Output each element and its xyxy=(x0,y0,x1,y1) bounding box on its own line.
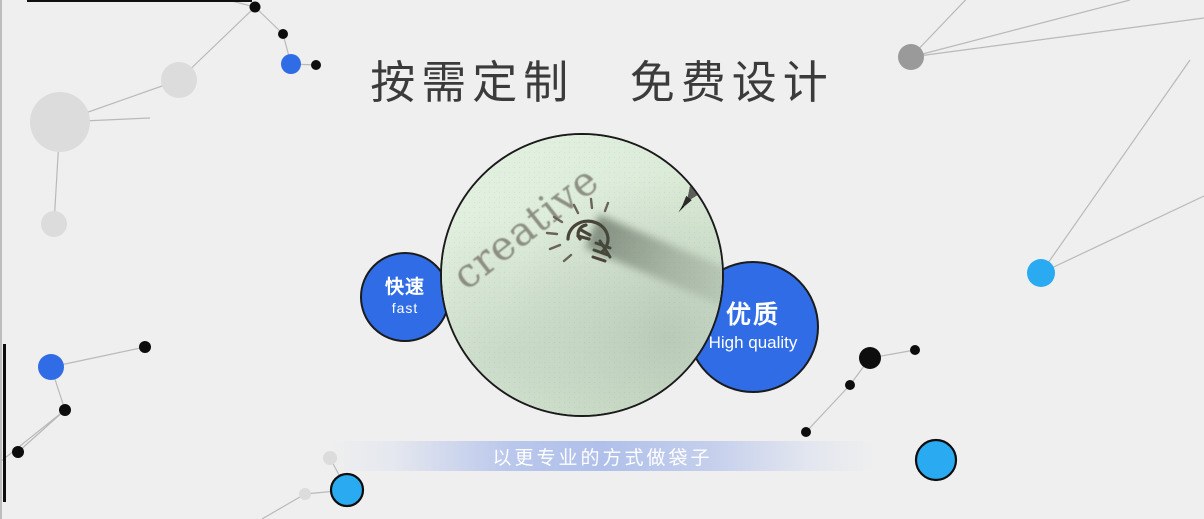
network-node xyxy=(41,211,67,237)
tagline-text: 以更专业的方式做袋子 xyxy=(492,443,712,470)
network-edge xyxy=(60,118,150,122)
network-node xyxy=(139,341,151,353)
network-edge xyxy=(262,494,305,519)
network-edge xyxy=(18,410,65,452)
network-node xyxy=(250,2,261,13)
page-title: 按需定制 免费设计 xyxy=(0,46,1204,111)
network-node xyxy=(299,488,311,500)
feature-bubble-fast[interactable]: 快速 fast xyxy=(360,252,450,342)
network-node xyxy=(59,404,71,416)
feature-bubble-fast-cn: 快速 xyxy=(385,277,425,298)
network-edge xyxy=(305,490,347,494)
network-edge xyxy=(51,347,145,367)
network-node xyxy=(845,380,855,390)
tagline-ribbon: 以更专业的方式做袋子 xyxy=(330,441,875,471)
paper-background: creative xyxy=(442,135,722,415)
network-node xyxy=(859,347,881,369)
network-node xyxy=(331,474,363,506)
promo-banner: 按需定制 免费设计 creative xyxy=(0,0,1204,519)
network-edge xyxy=(850,358,870,385)
network-node xyxy=(801,427,811,437)
top-edge-bar xyxy=(27,0,252,2)
network-node xyxy=(916,440,956,480)
network-node xyxy=(278,29,288,39)
network-node xyxy=(38,354,64,380)
network-node xyxy=(910,345,920,355)
network-edge xyxy=(51,367,65,410)
feature-bubble-quality-cn: 优质 xyxy=(726,301,780,329)
network-edge xyxy=(255,7,283,34)
feature-bubble-fast-en: fast xyxy=(392,301,419,317)
network-edge xyxy=(806,385,850,432)
network-node xyxy=(12,446,24,458)
creative-photo-circle: creative xyxy=(440,133,724,417)
network-edge xyxy=(1041,196,1204,273)
left-edge-bar xyxy=(3,344,6,502)
network-node xyxy=(1027,259,1055,287)
network-edge xyxy=(0,410,65,470)
network-edge xyxy=(54,122,60,224)
network-edge xyxy=(870,350,915,358)
